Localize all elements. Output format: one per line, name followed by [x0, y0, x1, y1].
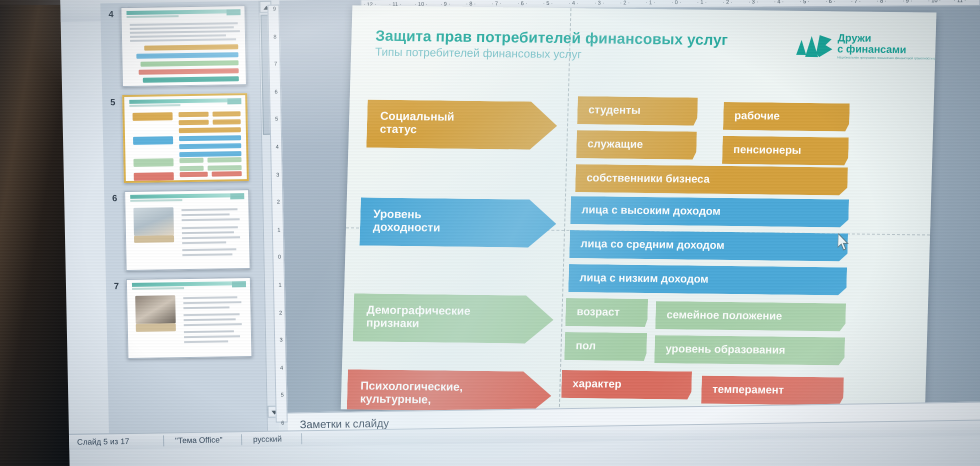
- ruler-tick-h: · 1 ·: [697, 0, 707, 8]
- thumb-subtitle-bar: [130, 199, 182, 202]
- status-language[interactable]: русский: [253, 435, 282, 444]
- ruler-tick-v: 9: [268, 7, 280, 13]
- ruler-tick-v: 2: [272, 200, 284, 206]
- thumb-number-6: 6: [112, 193, 117, 203]
- slide-editing-surface[interactable]: Защита прав потребителей финансовых услу…: [341, 5, 937, 416]
- logo: Дружи с финансами Национальная программа…: [795, 31, 914, 66]
- ruler-tick-h: · 0 ·: [671, 0, 681, 8]
- item-pensionery[interactable]: пенсионеры: [722, 136, 849, 166]
- category-label-line2: культурные,: [360, 393, 463, 408]
- ruler-tick-v: 8: [269, 34, 281, 40]
- ruler-tick-v: 5: [276, 393, 288, 399]
- category-label-line2: статус: [380, 124, 454, 138]
- ruler-tick-h: · 1 ·: [646, 0, 656, 8]
- ruler-tick-v: 4: [276, 365, 288, 371]
- logo-line-3: Национальная программа повышения финансо…: [837, 55, 936, 60]
- ruler-tick-h: · 7 ·: [851, 0, 861, 7]
- ruler-tick-h: · 4 ·: [774, 0, 784, 7]
- ruler-tick-v: 6: [270, 89, 282, 95]
- thumb-subtitle-bar: [127, 15, 179, 18]
- thumb-title-bar: [130, 193, 230, 199]
- thumb-number-7: 7: [114, 281, 119, 291]
- thumb-number-4: 4: [108, 9, 113, 19]
- item-pol[interactable]: пол: [564, 332, 647, 361]
- item-high-income[interactable]: лица с высоким доходом: [570, 196, 849, 227]
- category-arrow-income-level[interactable]: Уровень доходности: [359, 198, 556, 248]
- thumb-subtitle-bar: [129, 104, 180, 107]
- item-vozrast[interactable]: возраст: [565, 298, 648, 327]
- item-uroven-obrazovaniya[interactable]: уровень образования: [654, 335, 845, 365]
- ruler-tick-h: · 10 ·: [928, 0, 941, 6]
- thumb-logo: [227, 98, 241, 104]
- ruler-tick-v: 3: [272, 172, 284, 178]
- thumb-logo: [230, 193, 244, 199]
- category-arrow-demographic[interactable]: Демографические признаки: [353, 293, 554, 343]
- item-sluzhaschie[interactable]: служащие: [576, 130, 697, 159]
- category-label-line2: доходности: [373, 222, 441, 236]
- category-label-line1: Демографические: [366, 304, 470, 319]
- category-label-line1: Социальный: [380, 110, 454, 124]
- item-middle-income[interactable]: лица со средним доходом: [569, 230, 848, 261]
- thumbnail-slide-4[interactable]: [120, 5, 247, 87]
- logo-line-2: с финансами: [837, 43, 906, 56]
- category-arrow-social-status[interactable]: Социальный статус: [366, 100, 557, 150]
- ruler-tick-h: · 3 ·: [594, 0, 604, 9]
- mouse-cursor-icon: [838, 233, 851, 251]
- thumbnail-slide-7[interactable]: [126, 277, 253, 359]
- ruler-tick-h: · 5 ·: [800, 0, 810, 7]
- ruler-tick-v: 1: [273, 227, 285, 233]
- item-low-income[interactable]: лица с низким доходом: [568, 264, 847, 295]
- status-theme[interactable]: "Тема Office": [175, 435, 223, 445]
- ruler-tick-v: 4: [271, 145, 283, 151]
- item-studenty[interactable]: студенты: [577, 96, 698, 125]
- thumb-title-bar: [129, 98, 227, 104]
- ruler-tick-h: · 3 ·: [748, 0, 758, 8]
- thumbnail-slide-5[interactable]: [122, 93, 249, 183]
- ruler-tick-v: 5: [271, 117, 283, 123]
- item-semeynoe-polozhenie[interactable]: семейное положение: [655, 301, 846, 331]
- item-temperament[interactable]: темперамент: [701, 376, 844, 406]
- ruler-tick-h: · 9 ·: [902, 0, 912, 6]
- slide-subtitle[interactable]: Типы потребителей финансовых услуг: [375, 47, 582, 62]
- thumb-logo: [226, 9, 240, 15]
- photo-of-monitor: элементы управления проигрывателем Настр…: [0, 0, 980, 466]
- item-harakter[interactable]: характер: [561, 370, 692, 400]
- category-label-line1: Психологические,: [360, 380, 463, 395]
- status-slide-counter: Слайд 5 из 17: [77, 437, 129, 447]
- ruler-tick-v: 2: [275, 310, 287, 316]
- ruler-tick-h: · 2 ·: [620, 0, 630, 8]
- thumb-title-bar: [126, 9, 226, 15]
- item-sobstvenniki-biznesa[interactable]: собственники бизнеса: [575, 164, 848, 195]
- thumb-title-bar: [132, 281, 232, 287]
- ruler-tick-v: 3: [275, 338, 287, 344]
- ruler-tick-v: 7: [270, 62, 282, 68]
- thumb-logo: [232, 281, 246, 287]
- ruler-tick-h: · 2 ·: [723, 0, 733, 8]
- slide-thumbnails-pane[interactable]: 4: [100, 1, 267, 433]
- logo-mark-icon: [795, 33, 834, 59]
- thumbnail-slide-6[interactable]: [124, 189, 251, 271]
- thumb-number-5: 5: [110, 97, 115, 107]
- thumb-subtitle-bar: [132, 287, 184, 290]
- slide-title[interactable]: Защита прав потребителей финансовых услу…: [375, 28, 728, 49]
- powerpoint-window: элементы управления проигрывателем Настр…: [60, 0, 980, 466]
- category-label-line2: признаки: [366, 318, 470, 333]
- item-rabochie[interactable]: рабочие: [723, 102, 850, 132]
- ruler-tick-v: 0: [273, 255, 285, 261]
- ruler-tick-h: · 6 ·: [825, 0, 835, 7]
- ruler-tick-h: · 11 ·: [954, 0, 967, 6]
- category-label-line1: Уровень: [373, 208, 441, 222]
- ruler-tick-v: 1: [274, 282, 286, 288]
- ruler-tick-h: · 8 ·: [877, 0, 887, 7]
